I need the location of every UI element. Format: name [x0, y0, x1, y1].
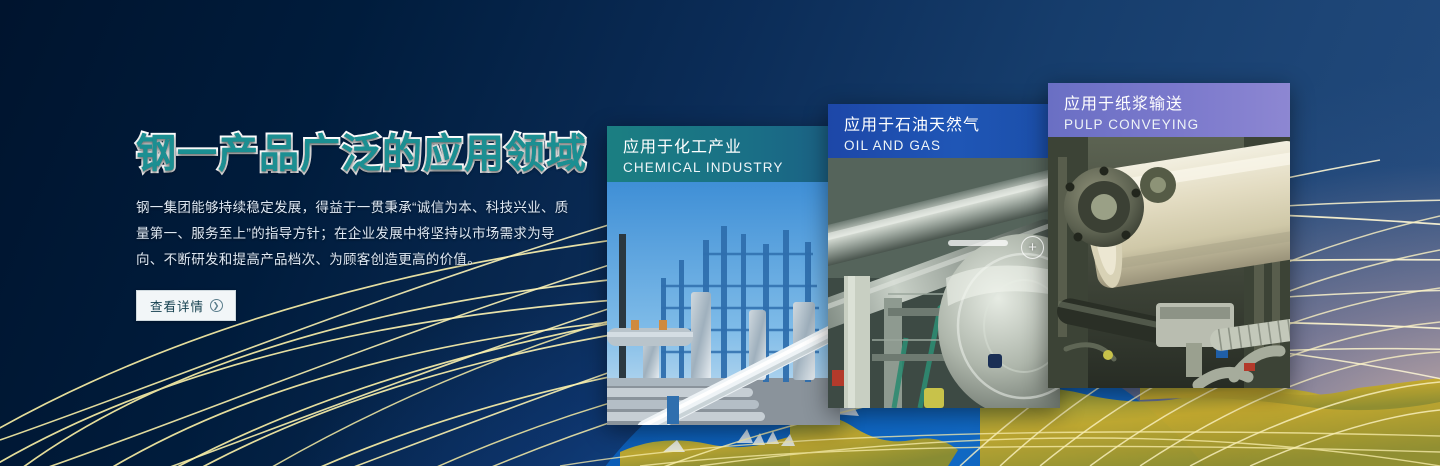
circle-arrow-right-icon: ❯ — [210, 299, 223, 312]
view-details-button[interactable]: 查看详情 ❯ — [136, 290, 236, 321]
application-card-chemical[interactable]: 应用于化工产业 CHEMICAL INDUSTRY — [607, 126, 840, 425]
hero-copy-block: 钢一产品广泛的应用领域 钢一产品广泛的应用领域 钢一集团能够持续稳定发展，得益于… — [136, 133, 606, 321]
card-title-cn: 应用于纸浆输送 — [1064, 94, 1290, 116]
zoom-in-cursor-icon: + — [1021, 236, 1044, 259]
card-title-en: OIL AND GAS — [844, 137, 1060, 155]
hero-banner: 钢一产品广泛的应用领域 钢一产品广泛的应用领域 钢一集团能够持续稳定发展，得益于… — [0, 0, 1440, 466]
application-card-pulp[interactable]: 应用于纸浆输送 PULP CONVEYING — [1048, 83, 1290, 388]
pulp-roller-photo — [1048, 137, 1290, 388]
hero-description: 钢一集团能够持续稳定发展，得益于一贯秉承“诚信为本、科技兴业、质量第一、服务至上… — [136, 195, 576, 273]
page-title: 钢一产品广泛的应用领域 钢一产品广泛的应用领域 — [136, 133, 606, 179]
card-header-pulp: 应用于纸浆输送 PULP CONVEYING — [1048, 83, 1290, 137]
card-header-chemical: 应用于化工产业 CHEMICAL INDUSTRY — [607, 126, 840, 182]
card-header-oil-gas: 应用于石油天然气 OIL AND GAS — [828, 104, 1060, 158]
page-title-fill: 钢一产品广泛的应用领域 — [136, 133, 587, 175]
oil-gas-pipes-photo — [828, 158, 1060, 408]
view-details-label: 查看详情 — [150, 296, 204, 315]
card-title-en: CHEMICAL INDUSTRY — [623, 159, 840, 177]
card-title-en: PULP CONVEYING — [1064, 116, 1290, 134]
card-title-cn: 应用于化工产业 — [623, 137, 840, 159]
chemical-plant-photo — [607, 182, 840, 425]
card-title-cn: 应用于石油天然气 — [844, 115, 1060, 137]
